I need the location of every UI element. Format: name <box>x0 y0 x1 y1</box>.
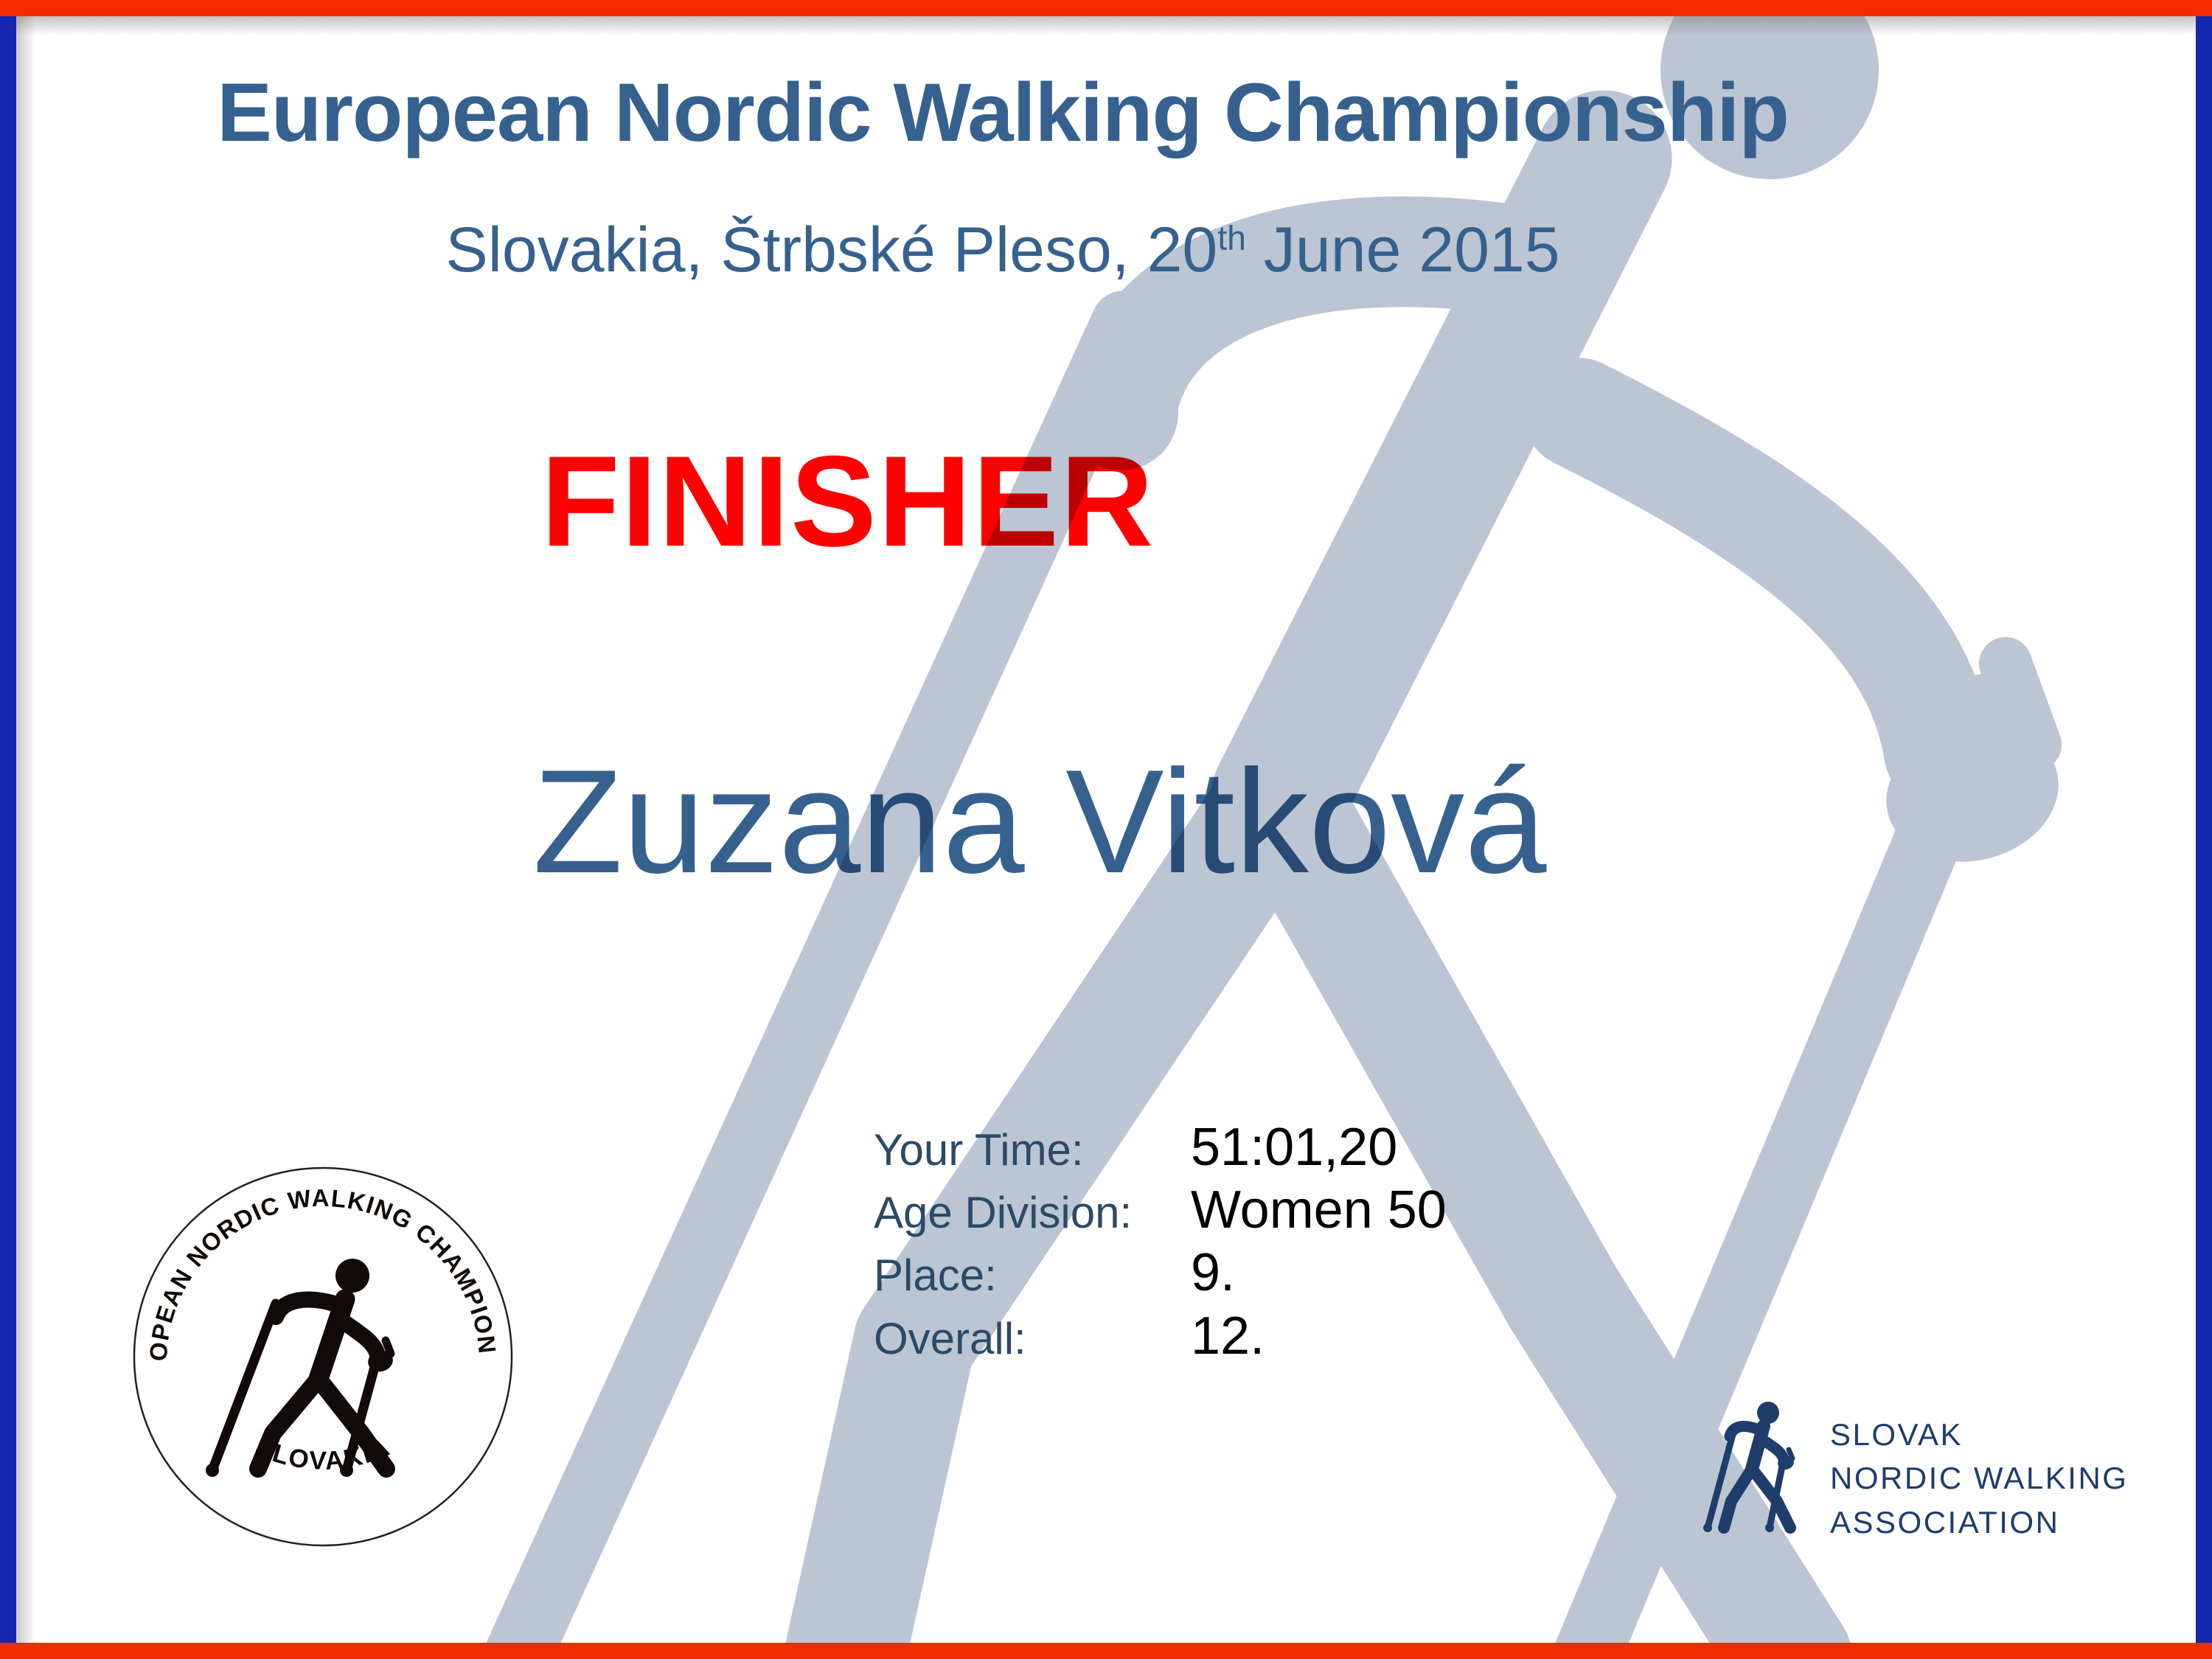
assoc-line-3: ASSOCIATION <box>1830 1500 2128 1545</box>
top-border-shadow <box>0 16 2212 35</box>
event-subtitle: Slovakia, Štrbské Pleso, 20th June 2015 <box>111 214 1895 287</box>
subtitle-ordinal-suffix: th <box>1217 218 1246 257</box>
association-name: SLOVAK NORDIC WALKING ASSOCIATION <box>1830 1413 2128 1545</box>
left-border-shadow <box>16 0 35 1659</box>
certificate-page: European Nordic Walking Championship Slo… <box>0 0 2212 1659</box>
page-title: European Nordic Walking Championship <box>111 65 1895 160</box>
nordic-walker-icon <box>1696 1401 1814 1556</box>
results-block: Your Time: 51:01,20 Age Division: Women … <box>874 1121 1447 1363</box>
assoc-line-2: NORDIC WALKING <box>1830 1456 2128 1500</box>
subtitle-month-year: June 2015 <box>1246 215 1560 285</box>
status-badge: FINISHER <box>111 428 1585 576</box>
result-value-age-division: Women 50 <box>1191 1183 1447 1237</box>
border-band-right <box>2196 0 2212 1659</box>
result-label-overall: Overall: <box>874 1314 1191 1363</box>
border-band-top <box>0 0 2212 16</box>
border-band-bottom <box>0 1643 2212 1659</box>
result-label-place: Place: <box>874 1251 1191 1300</box>
result-label-your-time: Your Time: <box>874 1125 1191 1175</box>
athlete-name: Zuzana Vitková <box>111 737 1969 907</box>
association-logo: SLOVAK NORDIC WALKING ASSOCIATION <box>1696 1394 2124 1563</box>
border-band-left <box>0 0 16 1659</box>
result-label-age-division: Age Division: <box>874 1188 1191 1237</box>
result-value-place: 9. <box>1191 1246 1447 1299</box>
assoc-line-1: SLOVAK <box>1830 1413 2128 1457</box>
result-value-overall: 12. <box>1191 1310 1447 1363</box>
championship-emblem: EUROPEAN NORDIC WALKING CHAMPIONSHIP SLO… <box>131 1165 515 1548</box>
result-value-your-time: 51:01,20 <box>1191 1121 1447 1174</box>
subtitle-location-date: Slovakia, Štrbské Pleso, 20 <box>445 215 1217 285</box>
